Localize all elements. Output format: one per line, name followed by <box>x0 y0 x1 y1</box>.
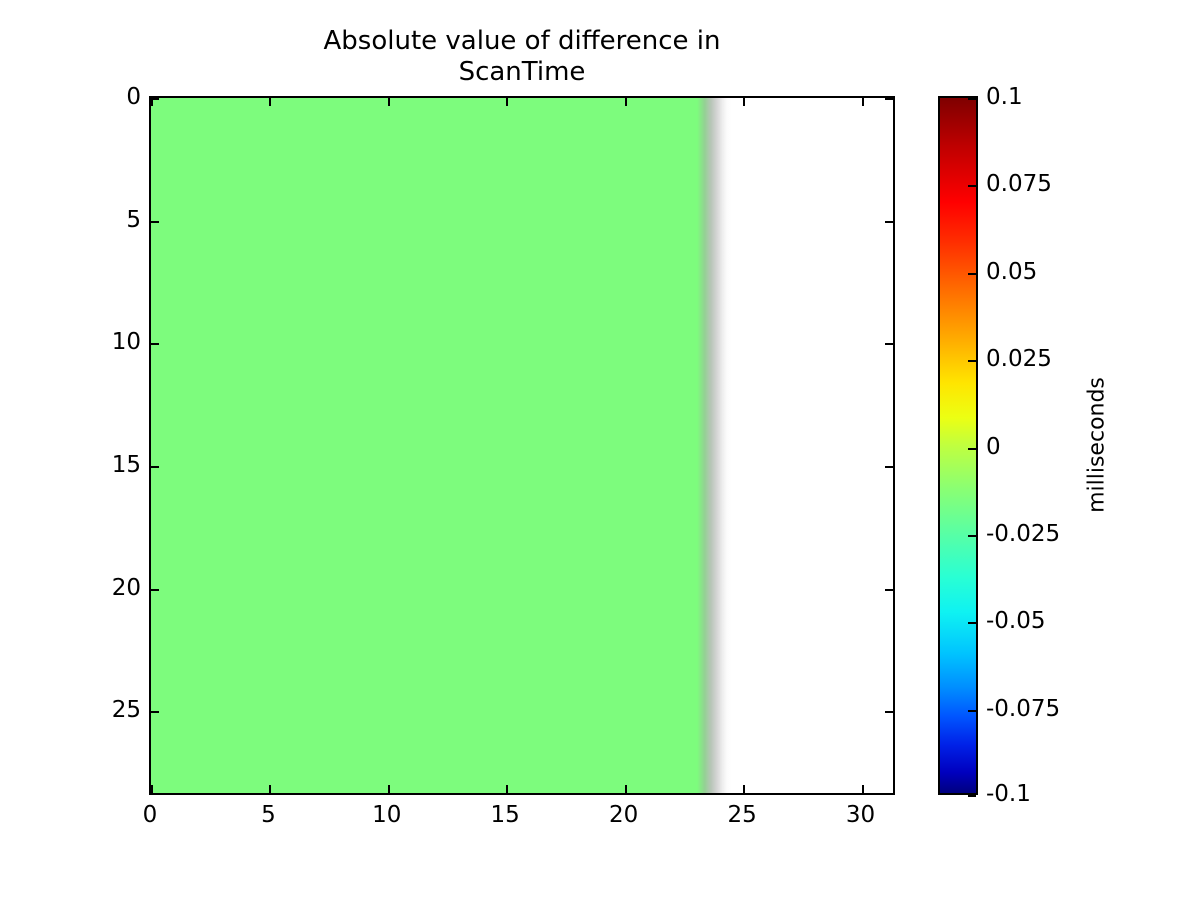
yticklabel-15: 15 <box>112 452 141 478</box>
ytick-right-5 <box>885 221 893 223</box>
ytick-0 <box>151 98 159 100</box>
ytick-right-20 <box>885 589 893 591</box>
yticklabel-10: 10 <box>112 329 141 355</box>
cbar-tick--0.05 <box>968 622 976 624</box>
xtick-top-5 <box>269 98 271 106</box>
ytick-right-25 <box>885 711 893 713</box>
cbar-tick--0.075 <box>968 710 976 712</box>
cbarticklabel-0.025: 0.025 <box>986 346 1052 372</box>
xticklabel-30: 30 <box>846 802 875 828</box>
xtick-5 <box>269 785 271 793</box>
xticklabel-20: 20 <box>609 802 638 828</box>
cbar-tick-0 <box>968 448 976 450</box>
xticklabel-10: 10 <box>372 802 401 828</box>
ytick-right-0 <box>885 98 893 100</box>
ytick-25 <box>151 711 159 713</box>
heatmap-image <box>151 98 893 793</box>
xtick-15 <box>506 785 508 793</box>
cbarticklabel-0.05: 0.05 <box>986 259 1037 285</box>
xticklabel-5: 5 <box>261 802 276 828</box>
yticklabel-0: 0 <box>126 84 141 110</box>
xtick-top-20 <box>625 98 627 106</box>
xtick-10 <box>388 785 390 793</box>
ytick-15 <box>151 466 159 468</box>
xticklabel-25: 25 <box>727 802 756 828</box>
ytick-right-10 <box>885 343 893 345</box>
heatmap-image-layer <box>151 98 893 793</box>
colorbar[interactable] <box>938 96 978 795</box>
xtick-30 <box>862 785 864 793</box>
colorbar-axis-label: milliseconds <box>1085 377 1110 513</box>
xtick-top-15 <box>506 98 508 106</box>
yticklabel-25: 25 <box>112 697 141 723</box>
figure-canvas: Absolute value of difference in ScanTime <box>0 0 1200 900</box>
xticklabel-0: 0 <box>143 802 158 828</box>
cbar-tick-0.025 <box>968 360 976 362</box>
xtick-0 <box>151 785 153 793</box>
xtick-top-10 <box>388 98 390 106</box>
cbarticklabel-0.075: 0.075 <box>986 171 1052 197</box>
yticklabel-5: 5 <box>126 207 141 233</box>
xticklabel-15: 15 <box>491 802 520 828</box>
cbar-tick-0.1 <box>968 98 976 100</box>
cbarticklabel--0.05: -0.05 <box>986 608 1046 634</box>
ytick-right-15 <box>885 466 893 468</box>
ytick-5 <box>151 221 159 223</box>
xtick-top-30 <box>862 98 864 106</box>
cbarticklabel-0.1: 0.1 <box>986 84 1023 110</box>
xtick-20 <box>625 785 627 793</box>
heatmap-axes[interactable] <box>149 96 895 795</box>
xtick-top-25 <box>743 98 745 106</box>
cbar-tick--0.1 <box>968 795 976 797</box>
cbar-tick--0.025 <box>968 535 976 537</box>
cbar-tick-0.075 <box>968 185 976 187</box>
ytick-10 <box>151 343 159 345</box>
cbarticklabel--0.075: -0.075 <box>986 696 1060 722</box>
yticklabel-20: 20 <box>112 575 141 601</box>
cbarticklabel-0: 0 <box>986 434 1001 460</box>
ytick-20 <box>151 589 159 591</box>
cbarticklabel--0.025: -0.025 <box>986 521 1060 547</box>
xtick-25 <box>743 785 745 793</box>
cbar-tick-0.05 <box>968 273 976 275</box>
cbarticklabel--0.1: -0.1 <box>986 781 1031 807</box>
colorbar-gradient <box>940 98 976 793</box>
page-title: Absolute value of difference in ScanTime <box>149 26 895 88</box>
